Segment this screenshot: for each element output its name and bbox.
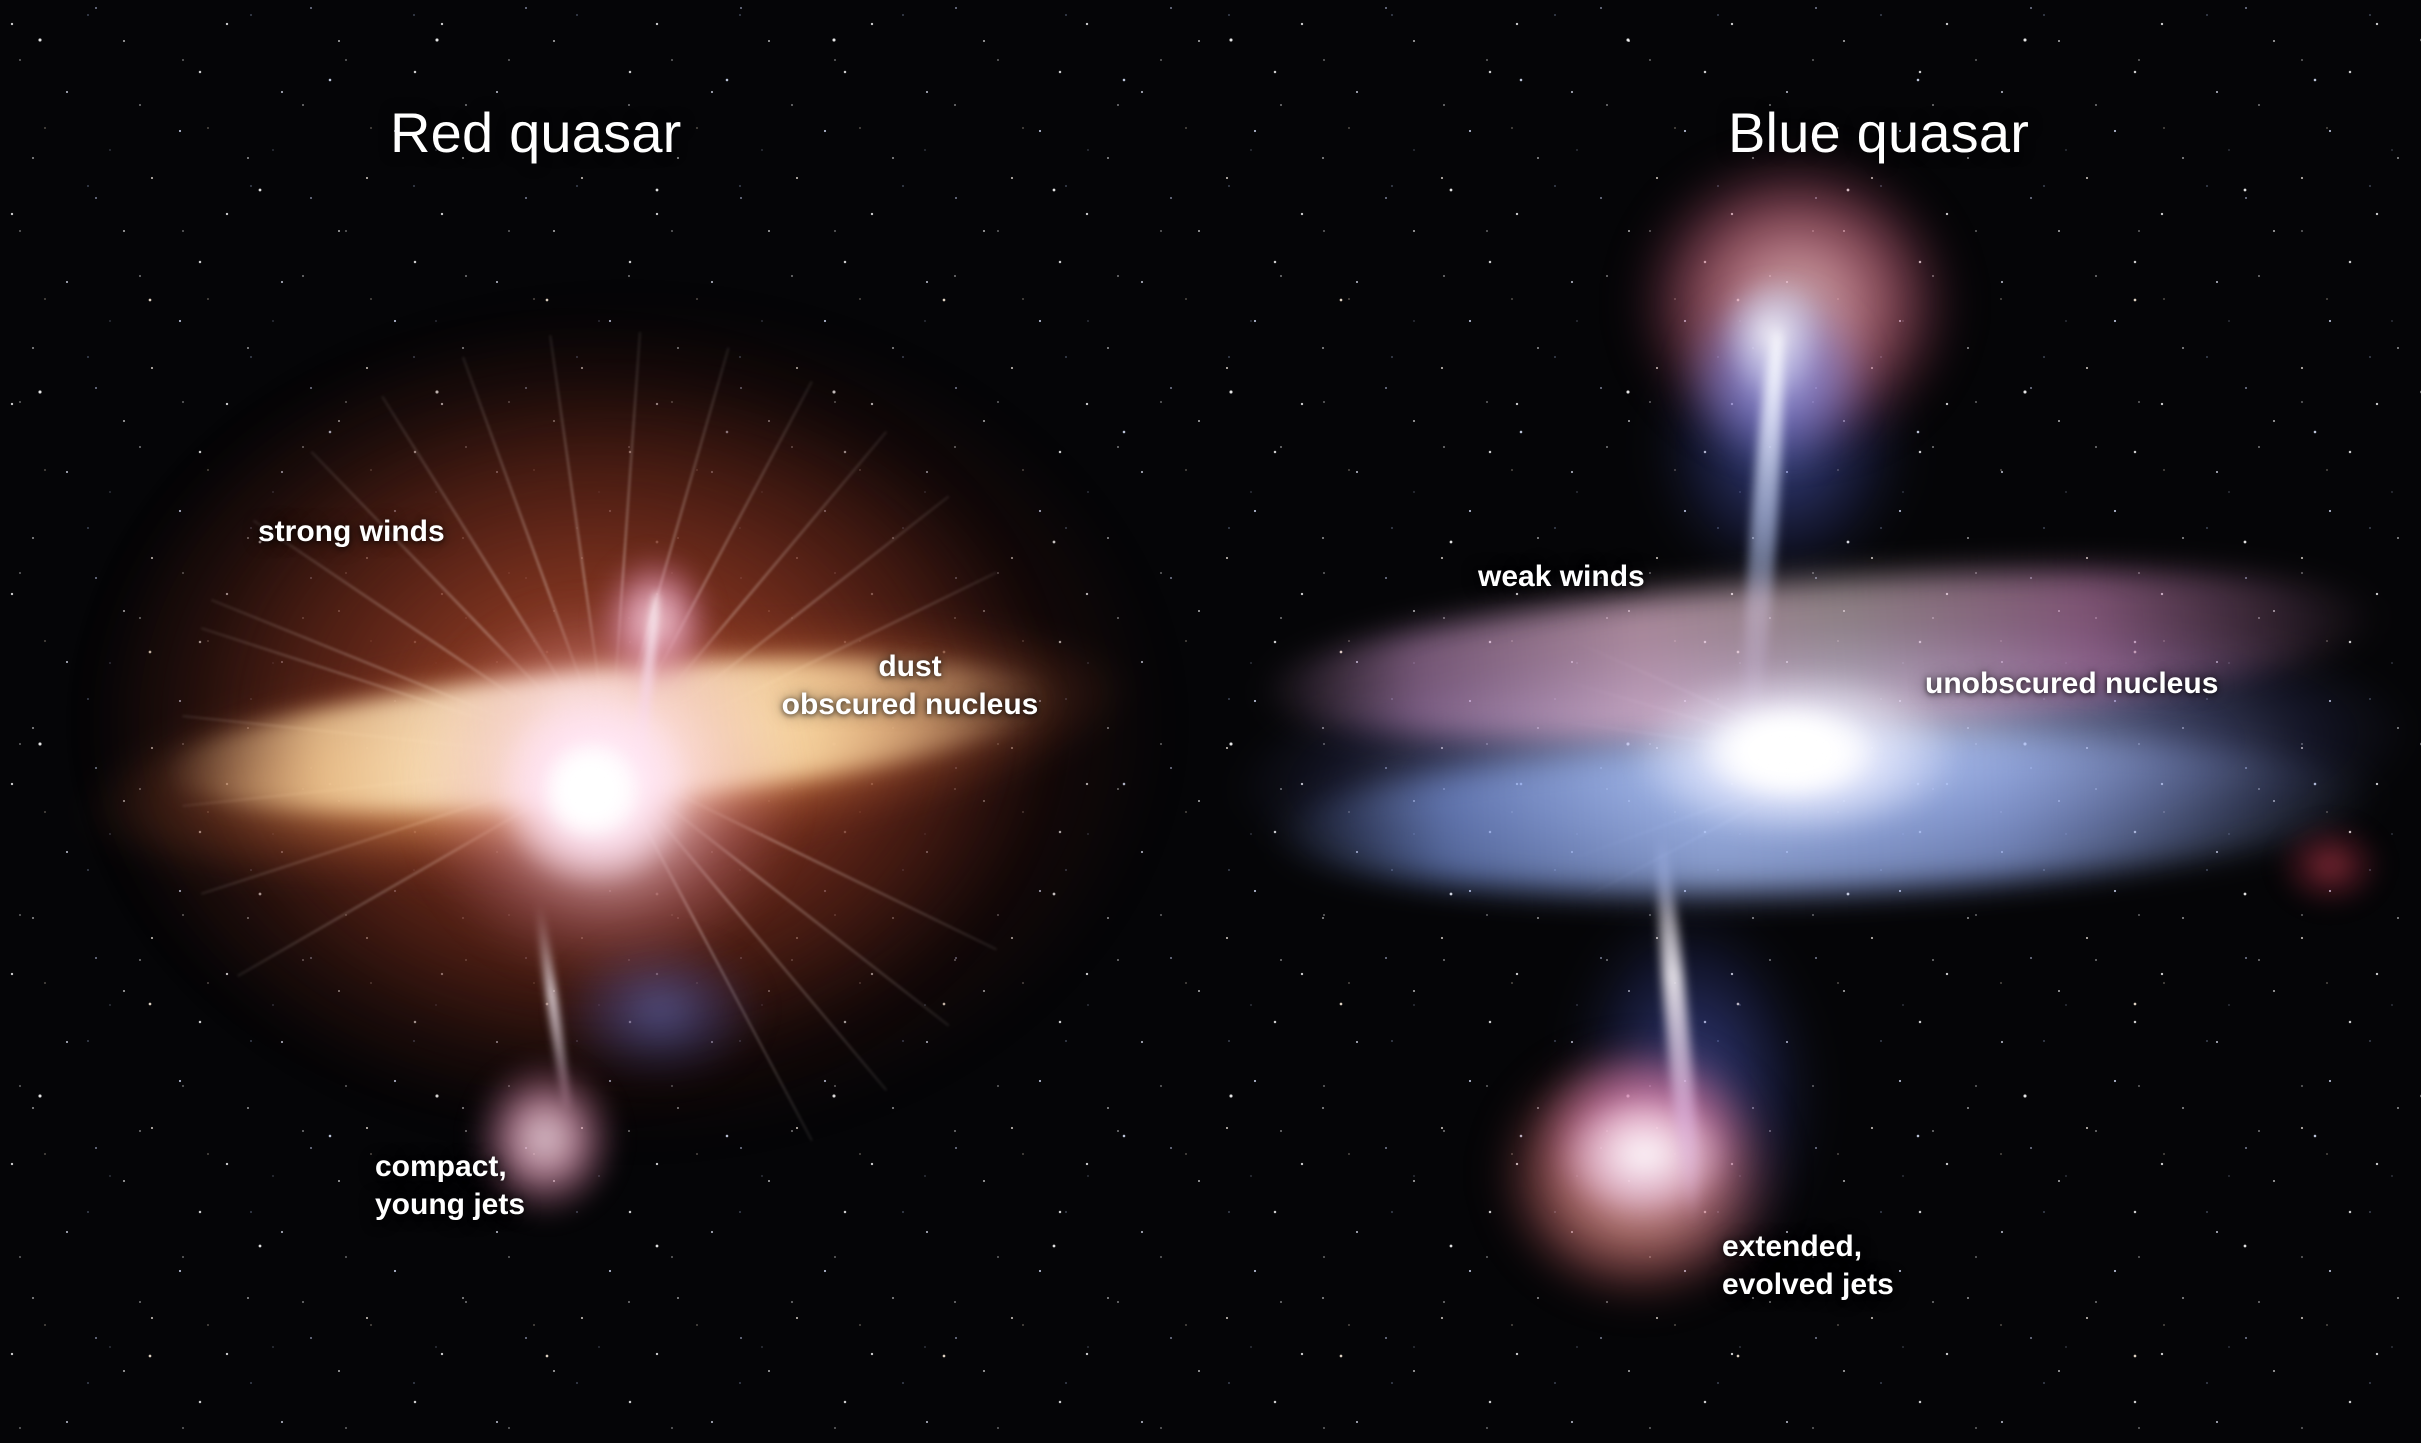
annotation-unobscured-nucleus: unobscured nucleus (1925, 665, 2218, 703)
annotation-compact-young-jets: compact, young jets (375, 1148, 525, 1225)
figure-canvas: Red quasar Blue quasar strong winds dust… (0, 0, 2421, 1443)
blue-quasar-illustration (1230, 180, 2420, 1330)
red-wind-streaks (130, 390, 1090, 1130)
blue-lower-lobe-hotspot (1560, 1095, 1730, 1215)
red-upper-jet-spine (629, 590, 662, 805)
red-dust-lane (64, 566, 1145, 933)
blue-upper-jet-lobe (1625, 145, 1965, 475)
red-lower-jet-spine (533, 900, 572, 1109)
annotation-extended-evolved-jets: extended, evolved jets (1722, 1228, 1894, 1305)
annotation-strong-winds: strong winds (258, 513, 445, 551)
blue-disk-hii-region (2275, 820, 2385, 910)
red-blue-emission-knot (560, 940, 760, 1080)
red-quasar-illustration (40, 300, 1170, 1200)
red-nucleus-glow (370, 600, 840, 980)
annotation-dust-obscured-nucleus: dust obscured nucleus (782, 648, 1039, 725)
red-quasar-title: Red quasar (390, 100, 682, 165)
red-dust-halo (40, 300, 1170, 1180)
annotation-weak-winds: weak winds (1478, 558, 1645, 596)
red-nucleus (470, 690, 720, 890)
blue-quasar-title: Blue quasar (1728, 100, 2029, 165)
blue-lower-lobe-core (1535, 1045, 1750, 1235)
